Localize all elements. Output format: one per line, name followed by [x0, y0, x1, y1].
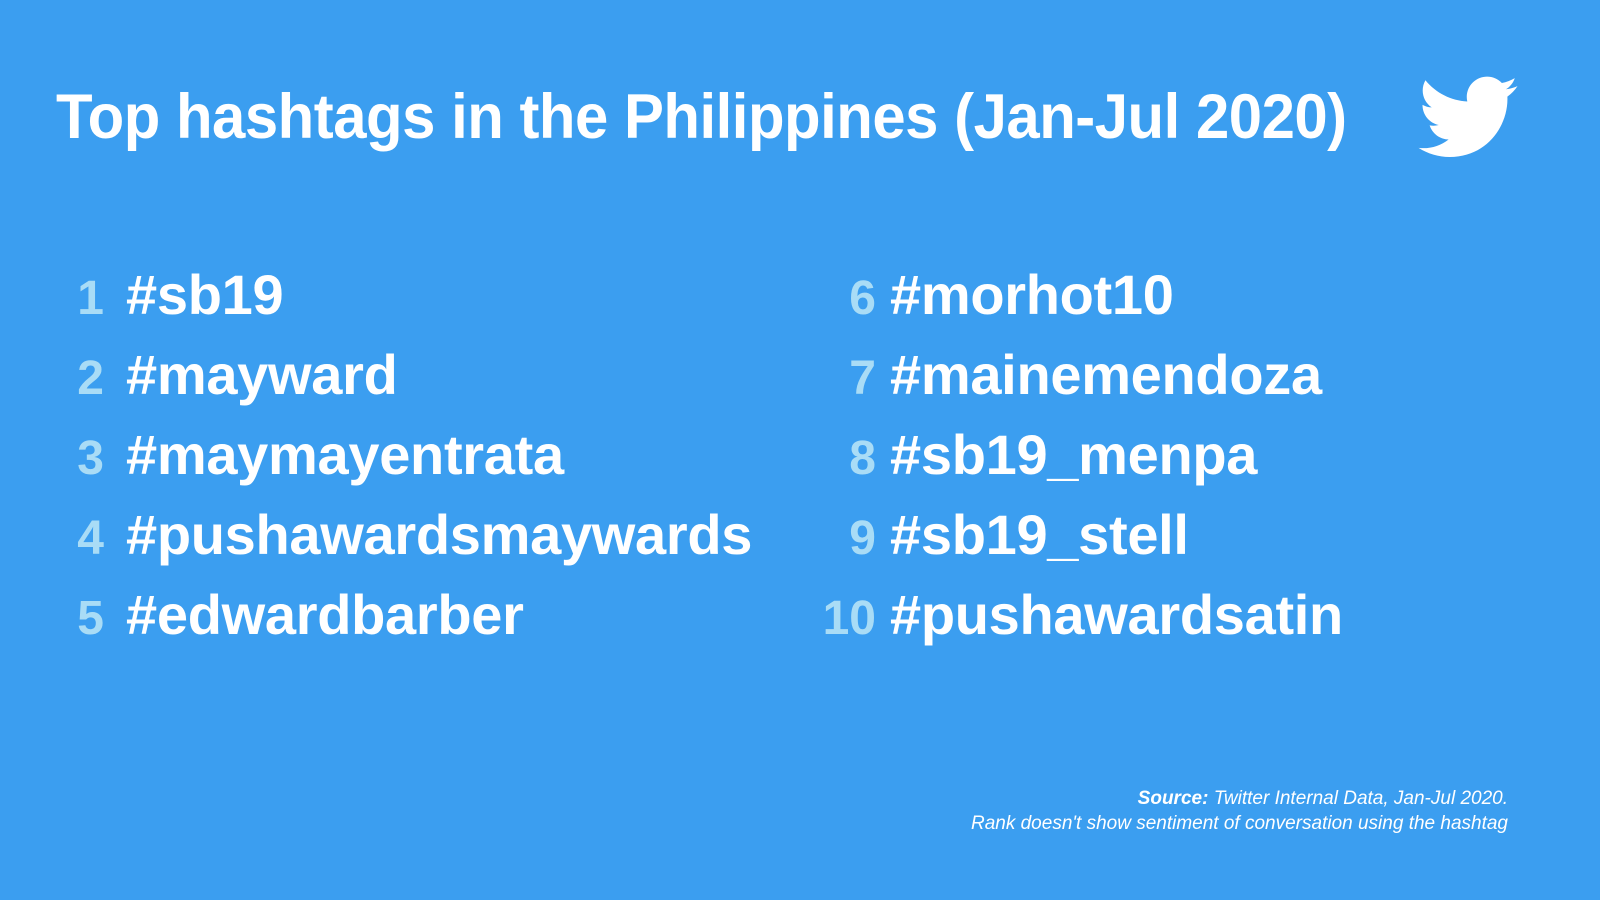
- source-text: Twitter Internal Data, Jan-Jul 2020.: [1208, 788, 1508, 809]
- list-item[interactable]: 5 #edwardbarber: [56, 575, 816, 655]
- source-line-1: Source: Twitter Internal Data, Jan-Jul 2…: [971, 786, 1508, 811]
- rank-number: 4: [56, 499, 104, 579]
- rank-number: 10: [800, 579, 876, 659]
- list-item[interactable]: 2 #mayward: [56, 335, 816, 415]
- list-item[interactable]: 1 #sb19: [56, 255, 816, 335]
- hashtag-label[interactable]: #mainemendoza: [890, 335, 1322, 415]
- hashtag-list-right: 6 #morhot10 7 #mainemendoza 8 #sb19_menp…: [800, 255, 1520, 655]
- list-item[interactable]: 3 #maymayentrata: [56, 415, 816, 495]
- rank-number: 1: [56, 259, 104, 339]
- hashtag-label[interactable]: #pushawardsmaywards: [126, 495, 752, 575]
- hashtag-label[interactable]: #edwardbarber: [126, 575, 524, 655]
- hashtag-label[interactable]: #maymayentrata: [126, 415, 564, 495]
- rank-number: 6: [800, 259, 876, 339]
- rank-number: 3: [56, 419, 104, 499]
- hashtag-label[interactable]: #sb19: [126, 255, 283, 335]
- hashtag-label[interactable]: #morhot10: [890, 255, 1174, 335]
- source-note: Source: Twitter Internal Data, Jan-Jul 2…: [971, 786, 1508, 836]
- list-item[interactable]: 6 #morhot10: [800, 255, 1520, 335]
- hashtag-label[interactable]: #mayward: [126, 335, 398, 415]
- hashtag-label[interactable]: #sb19_stell: [890, 495, 1189, 575]
- source-label: Source:: [1138, 788, 1209, 809]
- list-item[interactable]: 8 #sb19_menpa: [800, 415, 1520, 495]
- hashtag-list-left: 1 #sb19 2 #mayward 3 #maymayentrata 4 #p…: [56, 255, 816, 655]
- twitter-bird-icon: [1418, 76, 1518, 158]
- rank-number: 8: [800, 419, 876, 499]
- rank-number: 9: [800, 499, 876, 579]
- list-item[interactable]: 9 #sb19_stell: [800, 495, 1520, 575]
- source-line-2: Rank doesn't show sentiment of conversat…: [971, 811, 1508, 836]
- hashtag-label[interactable]: #sb19_menpa: [890, 415, 1257, 495]
- page-title: Top hashtags in the Philippines (Jan-Jul…: [56, 82, 1347, 152]
- list-item[interactable]: 4 #pushawardsmaywards: [56, 495, 816, 575]
- hashtag-label[interactable]: #pushawardsatin: [890, 575, 1343, 655]
- slide-canvas: Top hashtags in the Philippines (Jan-Jul…: [0, 0, 1600, 900]
- rank-number: 5: [56, 579, 104, 659]
- list-item[interactable]: 7 #mainemendoza: [800, 335, 1520, 415]
- rank-number: 7: [800, 339, 876, 419]
- rank-number: 2: [56, 339, 104, 419]
- list-item[interactable]: 10 #pushawardsatin: [800, 575, 1520, 655]
